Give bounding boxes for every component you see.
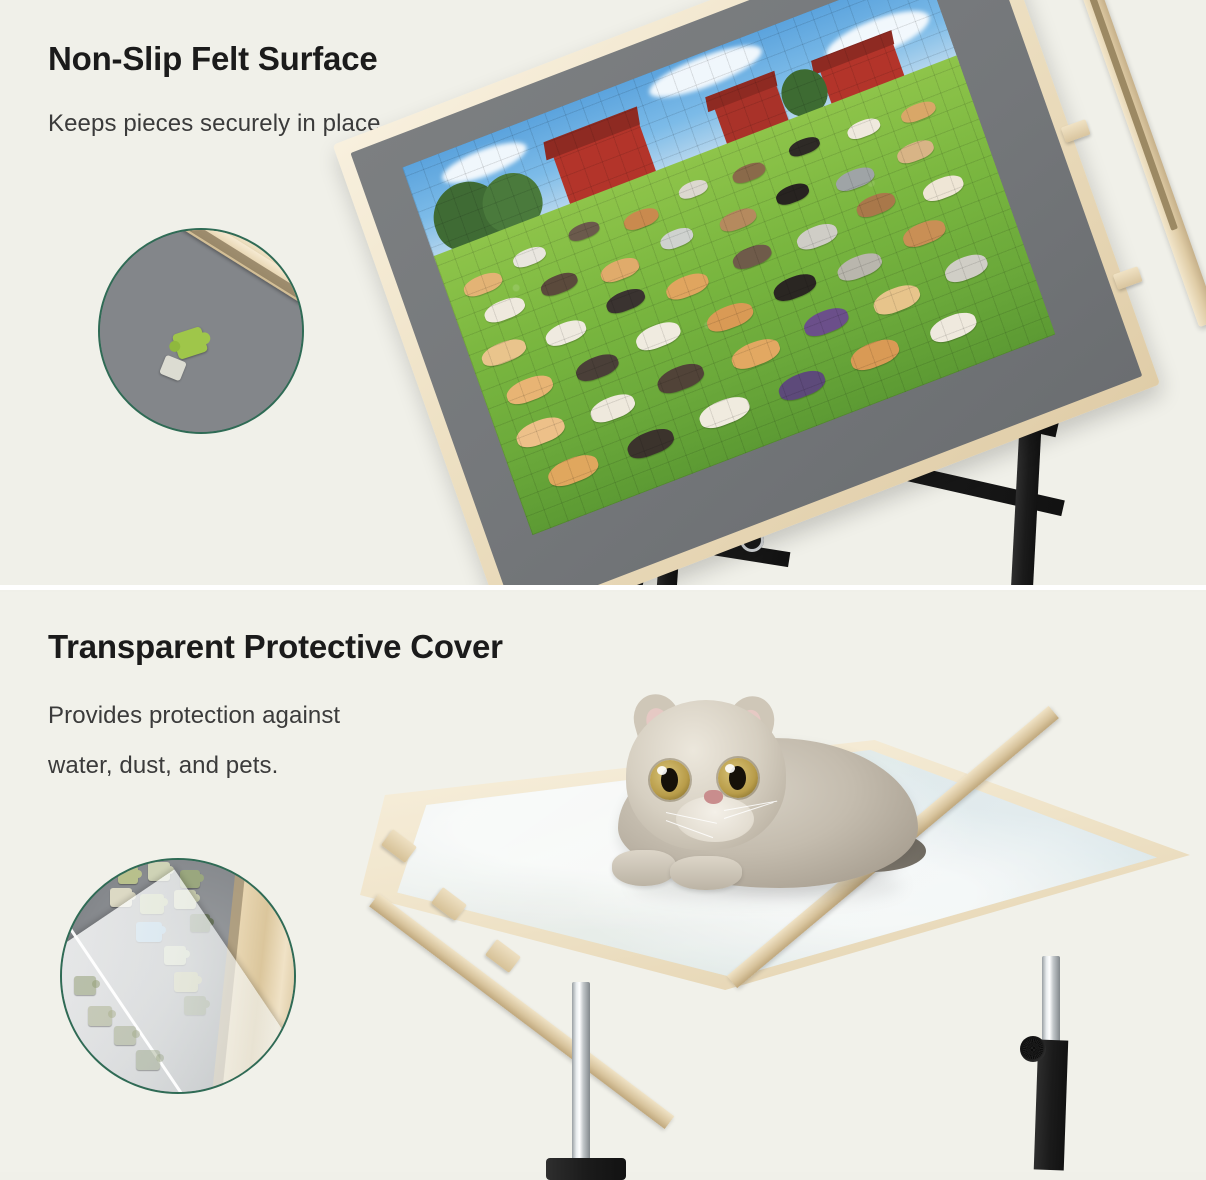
inset-felt-surface-closeup bbox=[98, 228, 304, 434]
cat-front-paw-left bbox=[612, 850, 676, 886]
flat-board-left-pole bbox=[572, 982, 590, 1172]
board-drawer-tab bbox=[485, 939, 521, 973]
panel-2-subtext-line2: water, dust, and pets. bbox=[48, 752, 278, 780]
puzzle-piece-under-cover bbox=[74, 976, 96, 995]
cat-eye-left bbox=[650, 760, 690, 800]
panel-2-heading: Transparent Protective Cover bbox=[48, 628, 503, 666]
panel-2-subtext-line1: Provides protection against bbox=[48, 702, 340, 730]
flat-board-foot bbox=[546, 1158, 626, 1180]
inset-protective-cover-closeup bbox=[60, 858, 296, 1094]
puzzle-piece-under-cover bbox=[136, 1050, 160, 1070]
cat-nose bbox=[704, 790, 723, 804]
panel-non-slip-felt: Non-Slip Felt Surface Keeps pieces secur… bbox=[0, 0, 1206, 588]
puzzle-piece-under-cover bbox=[114, 1026, 136, 1045]
cat-eye-highlight-right bbox=[725, 764, 735, 773]
board-rail-slot bbox=[1088, 0, 1178, 231]
puzzle-piece-under-cover bbox=[88, 1006, 112, 1026]
height-adjust-knob-flat[interactable] bbox=[1020, 1036, 1046, 1062]
cat-front-paw-right bbox=[670, 856, 742, 890]
cat-eye-right bbox=[718, 758, 758, 798]
cat-eye-highlight-left bbox=[657, 766, 667, 775]
puzzle-piece bbox=[118, 866, 138, 884]
panel-divider bbox=[0, 585, 1206, 590]
cat-on-board bbox=[598, 690, 928, 910]
panel-1-heading: Non-Slip Felt Surface bbox=[48, 40, 378, 78]
cat-head bbox=[626, 700, 786, 850]
